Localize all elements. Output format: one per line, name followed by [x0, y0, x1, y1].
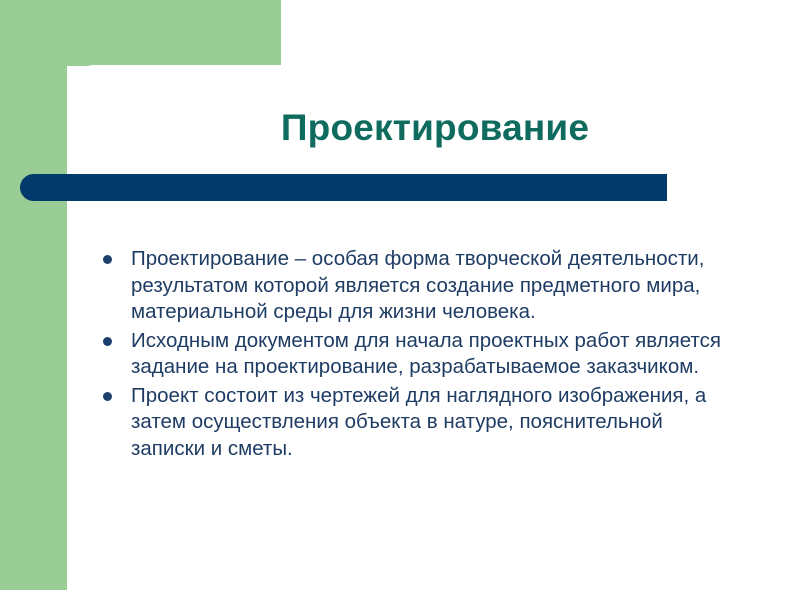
- list-item-text: Проектирование – особая форма творческой…: [131, 247, 704, 323]
- presentation-slide: Проектирование Проектирование – особая ф…: [0, 0, 800, 600]
- list-item: Проектирование – особая форма творческой…: [100, 246, 725, 326]
- disc-bullet-icon: [103, 392, 112, 401]
- slide-title: Проектирование: [90, 108, 780, 149]
- list-item-text: Проект состоит из чертежей для наглядног…: [131, 384, 706, 460]
- bullet-list: Проектирование – особая форма творческой…: [100, 246, 725, 464]
- disc-bullet-icon: [103, 255, 112, 264]
- list-item: Проект состоит из чертежей для наглядног…: [100, 383, 725, 463]
- green-accent-top-block: [0, 0, 281, 66]
- list-item-text: Исходным документом для начала проектных…: [131, 329, 721, 379]
- green-accent-left-strip: [0, 60, 67, 590]
- list-item: Исходным документом для начала проектных…: [100, 328, 725, 381]
- title-underline-bar: [20, 174, 667, 201]
- disc-bullet-icon: [103, 337, 112, 346]
